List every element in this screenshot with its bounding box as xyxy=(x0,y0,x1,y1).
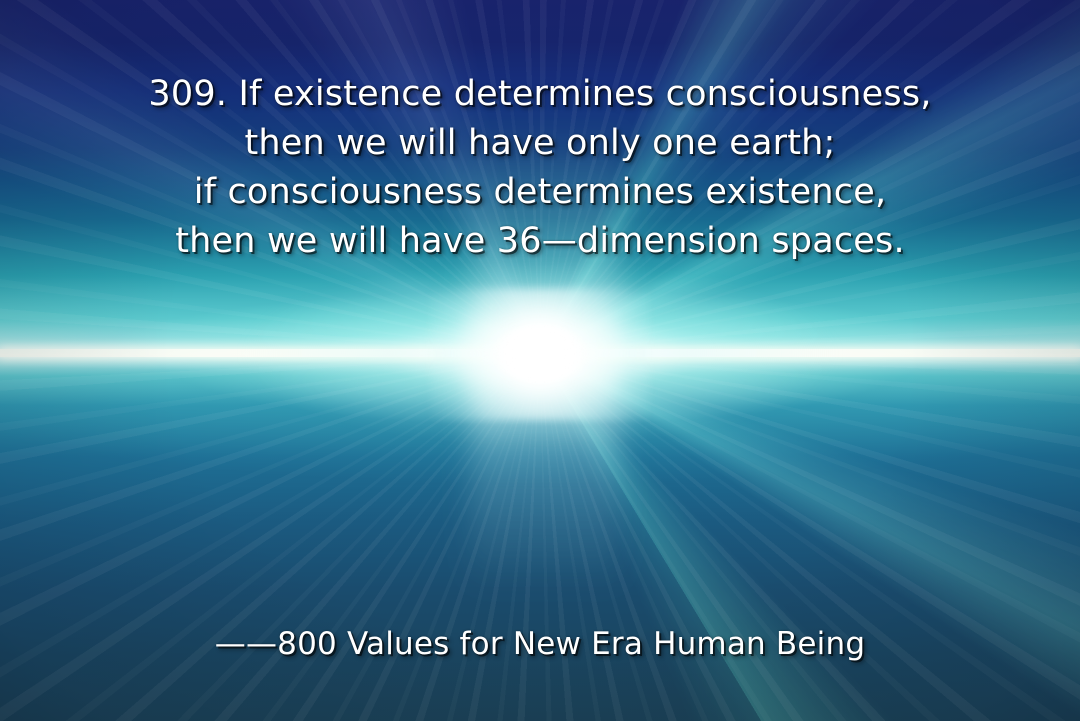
light-burst-hotspot xyxy=(492,326,588,382)
attribution-text: ——800 Values for New Era Human Being xyxy=(0,624,1080,664)
quote-line-2: then we will have only one earth; xyxy=(0,119,1080,168)
quote-line-4: then we will have 36—dimension spaces. xyxy=(0,217,1080,266)
quote-line-3: if consciousness determines existence, xyxy=(0,168,1080,217)
quote-wallpaper-canvas: 309. If existence determines consciousne… xyxy=(0,0,1080,721)
quote-text-block: 309. If existence determines consciousne… xyxy=(0,70,1080,266)
quote-line-1: 309. If existence determines consciousne… xyxy=(0,70,1080,119)
